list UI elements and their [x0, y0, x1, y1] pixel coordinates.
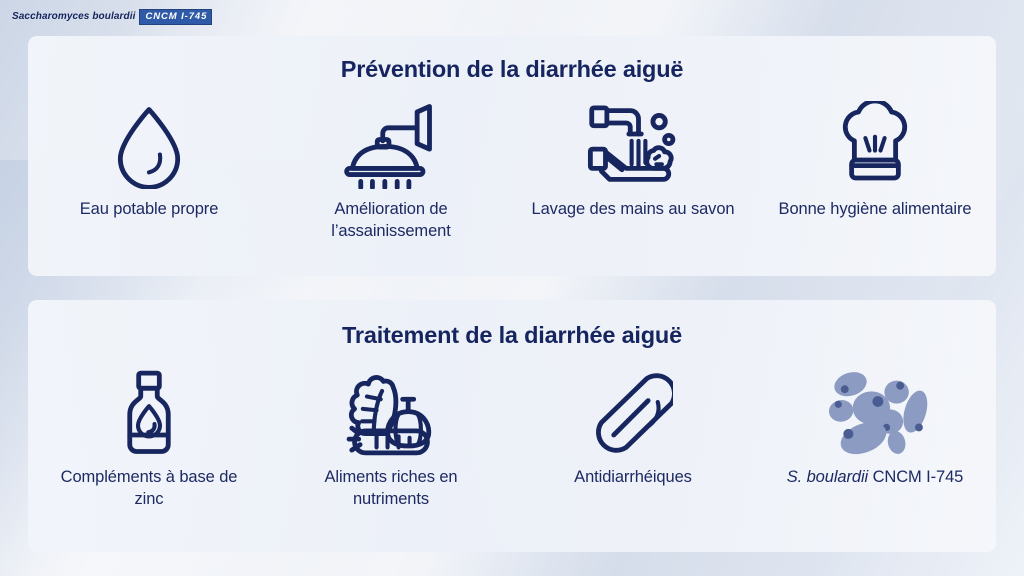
brand-strain-badge: CNCM I-745 [139, 9, 212, 25]
vegetables-icon [339, 369, 443, 457]
item-label: Aliments riches en nutriments [286, 467, 496, 511]
item-handwashing: Lavage des mains au savon [512, 101, 754, 221]
panel-treatment: Traitement de la diarrhée aiguë Compléme… [28, 300, 996, 552]
item-label: Bonne hygiène alimentaire [779, 199, 972, 221]
item-clean-water: Eau potable propre [28, 101, 270, 221]
item-label-strain: CNCM I-745 [868, 468, 963, 486]
item-antidiarrheals: Antidiarrhéiques [512, 369, 754, 489]
supplement-bottle-icon [113, 369, 185, 457]
brand-species-name: Saccharomyces boulardii [12, 11, 135, 22]
item-nutritious-foods: Aliments riches en nutriments [270, 369, 512, 511]
item-label: Antidiarrhéiques [574, 467, 692, 489]
item-zinc-supplements: Compléments à base de zinc [28, 369, 270, 511]
item-sanitation: Amélioration de l’assainissement [270, 101, 512, 243]
water-drop-icon [108, 101, 190, 189]
shower-icon [343, 101, 439, 189]
handwashing-icon [583, 101, 683, 189]
item-label: S. boulardii CNCM I-745 [787, 467, 964, 489]
panel-prevention: Prévention de la diarrhée aiguë Eau pota… [28, 36, 996, 276]
yeast-cells-icon [821, 369, 929, 457]
item-label: Amélioration de l’assainissement [286, 199, 496, 243]
panel-treatment-items: Compléments à base de zinc [28, 369, 996, 511]
panel-treatment-title: Traitement de la diarrhée aiguë [28, 322, 996, 349]
item-label-species: S. boulardii [787, 468, 868, 486]
item-food-hygiene: Bonne hygiène alimentaire [754, 101, 996, 221]
item-label: Lavage des mains au savon [532, 199, 735, 221]
panel-prevention-items: Eau potable propre [28, 101, 996, 243]
panel-prevention-title: Prévention de la diarrhée aiguë [28, 56, 996, 83]
brand-logo: Saccharomyces boulardii CNCM I-745 [12, 9, 212, 25]
item-s-boulardii: S. boulardii CNCM I-745 [754, 369, 996, 489]
chef-hat-icon [829, 101, 921, 189]
item-label: Compléments à base de zinc [44, 467, 254, 511]
item-label: Eau potable propre [80, 199, 219, 221]
capsule-icon [593, 369, 673, 457]
